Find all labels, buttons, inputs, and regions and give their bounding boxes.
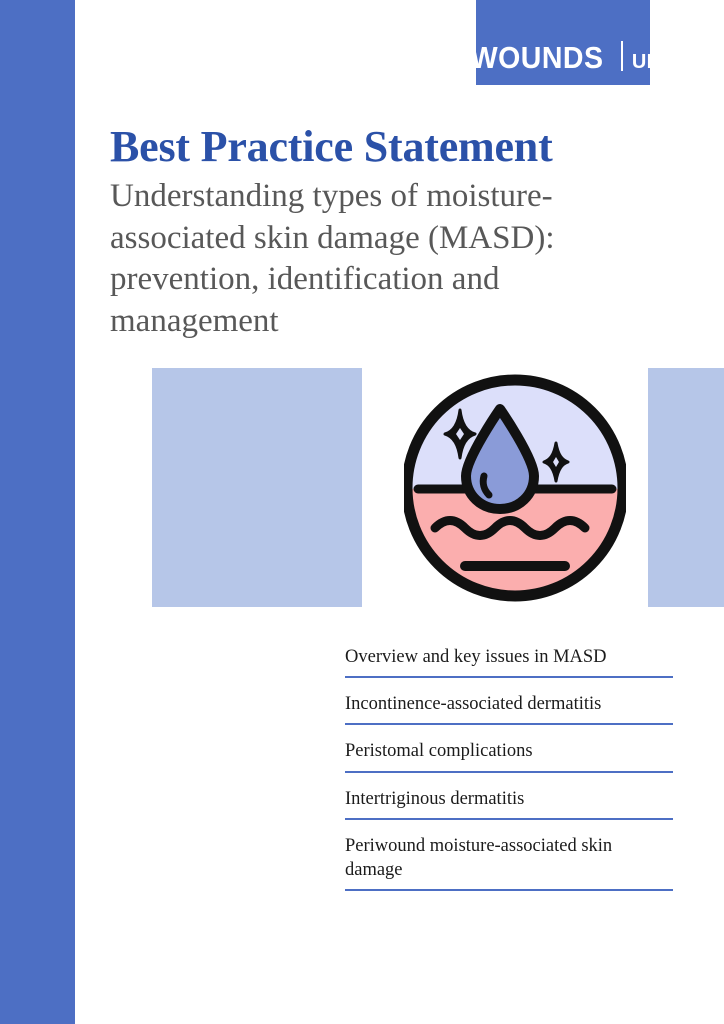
publication-cover: 2025 WOUNDS UK Best Practice Statement U… xyxy=(0,0,724,1024)
page-subtitle: Understanding types of moisture-associat… xyxy=(110,176,655,342)
publisher-logo-divider xyxy=(621,41,623,71)
moisture-droplet-on-skin-icon xyxy=(404,370,626,606)
publisher-logo-word: WOUNDS xyxy=(470,42,603,73)
decorative-panel-right xyxy=(648,368,724,607)
publisher-logo-inner: WOUNDS UK xyxy=(465,38,662,73)
title-block: Best Practice Statement Understanding ty… xyxy=(110,124,670,343)
left-blue-spine xyxy=(0,0,75,1024)
page-title: Best Practice Statement xyxy=(110,124,670,170)
year-label: 2025 xyxy=(84,670,194,910)
contents-list: Overview and key issues in MASD Incontin… xyxy=(345,645,673,891)
publisher-logo-suffix: UK xyxy=(632,52,662,72)
publisher-logo: WOUNDS UK xyxy=(476,0,650,85)
decorative-panel-left xyxy=(152,368,362,607)
contents-item: Overview and key issues in MASD xyxy=(345,645,673,678)
contents-item: Peristomal complications xyxy=(345,739,673,772)
contents-item: Intertriginous dermatitis xyxy=(345,787,673,820)
contents-item: Periwound moisture-associated skin damag… xyxy=(345,834,673,891)
contents-item: Incontinence-associated dermatitis xyxy=(345,692,673,725)
